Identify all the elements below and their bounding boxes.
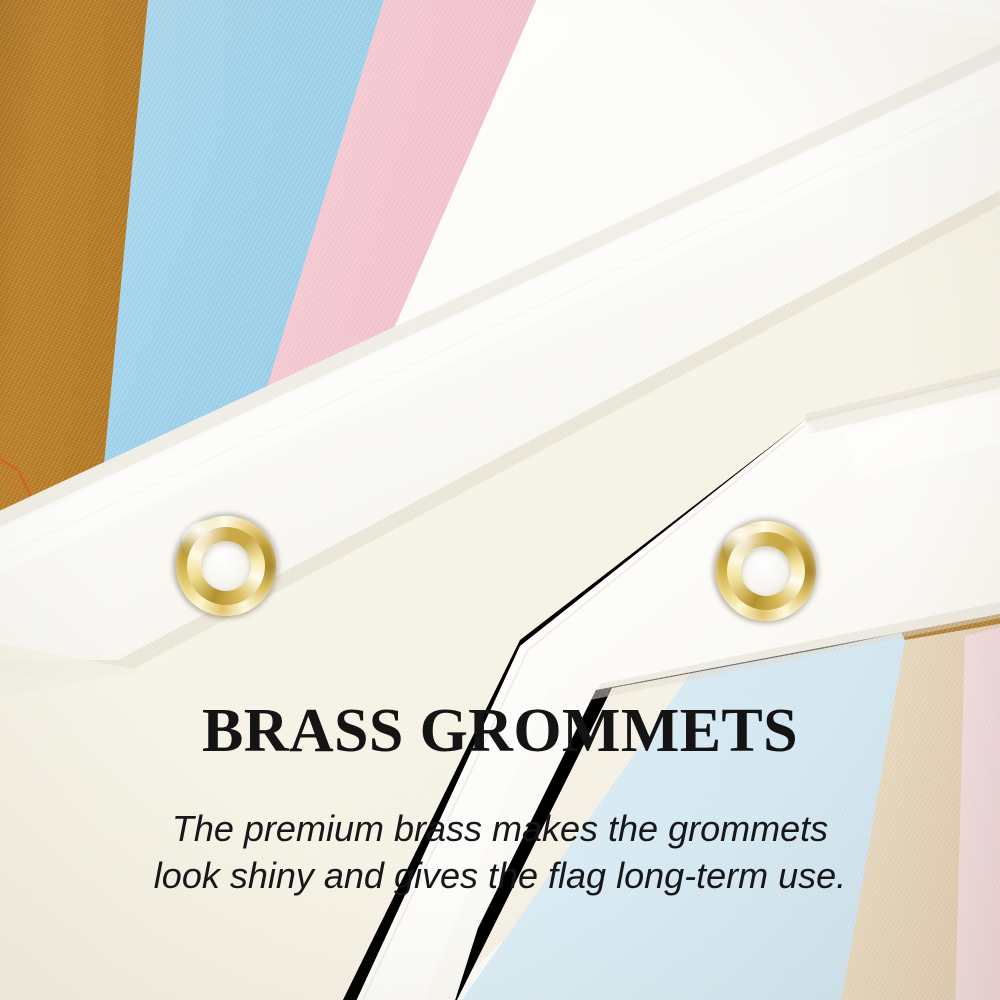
- grommet-left: [176, 516, 276, 616]
- grommet-right: [716, 521, 816, 621]
- subtitle-line-1: The premium brass makes the grommets: [0, 808, 1000, 850]
- grommet-left-hole: [201, 541, 251, 591]
- top-edge-highlight: [0, 0, 1000, 1000]
- subtitle-line-2: look shiny and gives the flag long-term …: [0, 855, 1000, 897]
- grommet-right-hole: [741, 546, 791, 596]
- headline-brass-grommets: BRASS GROMMETS: [0, 698, 1000, 764]
- product-photo-canvas: BRASS GROMMETS The premium brass makes t…: [0, 0, 1000, 1000]
